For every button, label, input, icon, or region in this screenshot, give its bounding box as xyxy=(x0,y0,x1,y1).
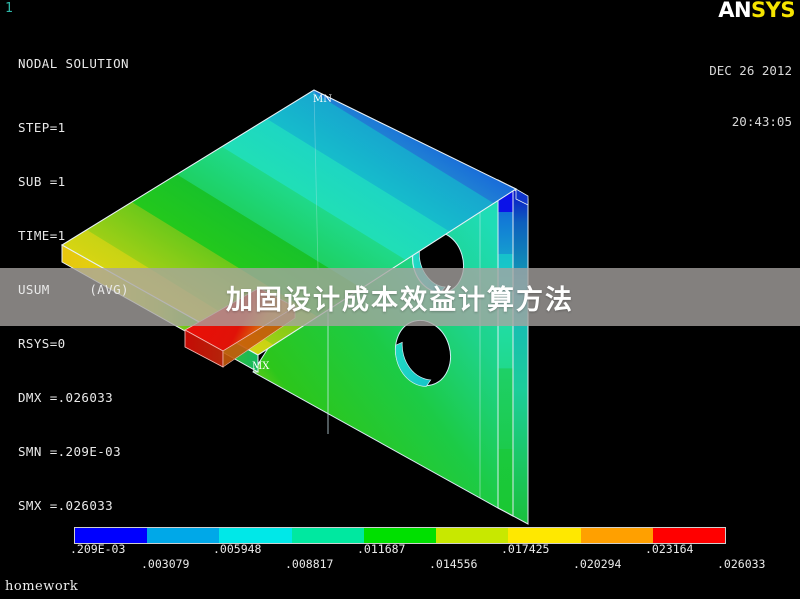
color-band-7 xyxy=(581,528,653,543)
color-band-3 xyxy=(292,528,364,543)
solution-line-smx: SMX =.026033 xyxy=(18,497,129,515)
ansys-logo-an: AN xyxy=(718,0,751,22)
contour-color-bar-labels: .209E-03 .003079 .005948 .008817 .011687… xyxy=(0,543,800,573)
window-number: 1 xyxy=(5,2,13,15)
node-min-label: MN xyxy=(313,95,332,105)
cbar-tick-6: .017425 xyxy=(501,543,549,555)
color-band-0 xyxy=(75,528,147,543)
cbar-tick-0: .209E-03 xyxy=(70,543,125,555)
footer-title: homework xyxy=(5,580,78,594)
timestamp-time: 20:43:05 xyxy=(709,113,792,130)
solution-title: NODAL SOLUTION xyxy=(18,55,129,73)
solution-line-time: TIME=1 xyxy=(18,227,129,245)
color-band-2 xyxy=(219,528,291,543)
cbar-tick-7: .020294 xyxy=(573,558,621,570)
color-band-1 xyxy=(147,528,219,543)
cbar-tick-8: .023164 xyxy=(645,543,693,555)
node-max-label: MX xyxy=(252,362,269,372)
timestamp-date: DEC 26 2012 xyxy=(709,62,792,79)
solution-line-sub: SUB =1 xyxy=(18,173,129,191)
solution-line-smn: SMN =.209E-03 xyxy=(18,443,129,461)
ansys-logo: ANSYS xyxy=(718,0,795,21)
cbar-tick-4: .011687 xyxy=(357,543,405,555)
back-plate-face xyxy=(498,180,513,516)
timestamp-block: DEC 26 2012 20:43:05 xyxy=(709,28,792,164)
ansys-logo-sys: SYS xyxy=(751,0,795,22)
cbar-tick-3: .008817 xyxy=(285,558,333,570)
color-band-8 xyxy=(653,528,725,543)
solution-line-dmx: DMX =.026033 xyxy=(18,389,129,407)
color-band-4 xyxy=(364,528,436,543)
ansys-graphics-window: MN MX 加固设计成本效益计算方法 1 NODAL SOLUTION STEP… xyxy=(0,0,800,599)
cbar-tick-5: .014556 xyxy=(429,558,477,570)
back-plate-side-face xyxy=(513,189,528,524)
cbar-tick-2: .005948 xyxy=(213,543,261,555)
solution-info-block: NODAL SOLUTION STEP=1 SUB =1 TIME=1 USUM… xyxy=(18,19,129,551)
cbar-tick-1: .003079 xyxy=(141,558,189,570)
solution-line-rsys: RSYS=0 xyxy=(18,335,129,353)
cbar-tick-9: .026033 xyxy=(717,558,765,570)
solution-line-step: STEP=1 xyxy=(18,119,129,137)
color-band-6 xyxy=(508,528,580,543)
color-band-5 xyxy=(436,528,508,543)
solution-line-usum: USUM (AVG) xyxy=(18,281,129,299)
